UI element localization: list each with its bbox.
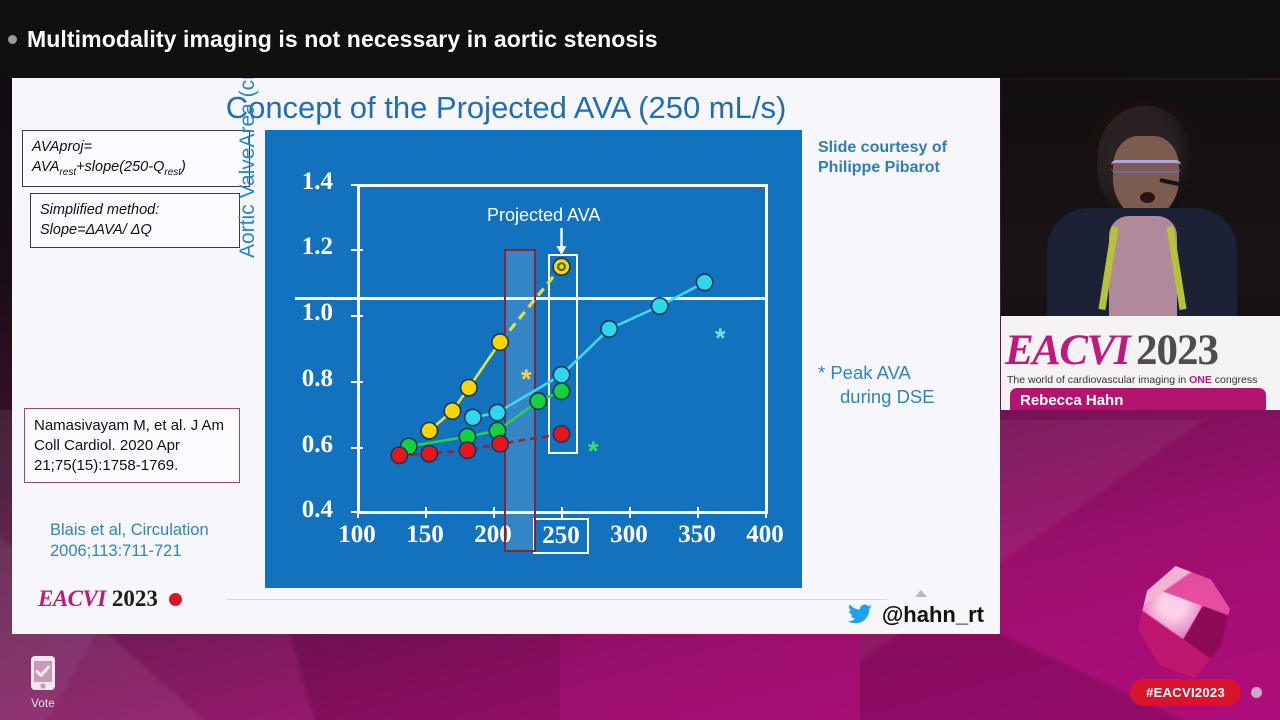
peak-note-line-2: during DSE (818, 385, 998, 409)
podium-tagline-a: The world of cardiovascular imaging in (1007, 374, 1189, 386)
footer-divider (227, 599, 887, 600)
podium-tagline-one: ONE (1189, 374, 1212, 386)
formula-box-avaproj: AVAproj= AVArest+slope(250-Qrest) (22, 130, 250, 187)
podium-logo-brand: EACVI (1005, 326, 1129, 375)
slide-title: Concept of the Projected AVA (250 mL/s) (12, 90, 1000, 126)
microphone-head (1209, 180, 1222, 193)
footer-caret-icon (915, 590, 927, 597)
vote-label: Vote (20, 698, 66, 710)
formula-line-2b: +slope(250-Q (76, 159, 164, 175)
speaker-video-panel[interactable]: EACVI 2023 The world of cardiovascular i… (1001, 80, 1280, 410)
hashtag-group: #EACVI2023 (1130, 679, 1262, 706)
formula-line-1: AVAproj= (32, 139, 92, 155)
app-root: Multimodality imaging is not necessary i… (0, 0, 1280, 720)
vote-button[interactable]: Vote (20, 655, 66, 710)
twitter-handle-text: @hahn_rt (882, 602, 984, 628)
formula-line-2c: ) (181, 159, 186, 175)
twitter-handle-group: @hahn_rt (847, 602, 984, 628)
hashtag-pill: #EACVI2023 (1130, 679, 1241, 706)
citation-primary: Namasivayam M, et al. J Am Coll Cardiol.… (24, 408, 240, 483)
hashtag-dot-icon (1251, 687, 1262, 698)
speaker-glasses (1111, 160, 1181, 173)
citation-secondary-line2: 2006;113:711-721 (50, 542, 182, 560)
podium-logo-year: 2023 (1136, 326, 1218, 375)
footer-logo-brand: EACVI (38, 586, 106, 612)
simplified-label: Simplified method: (40, 202, 159, 218)
formula-sub-rest-1: rest (59, 166, 76, 177)
header-bar: Multimodality imaging is not necessary i… (0, 0, 1280, 78)
podium-tagline: The world of cardiovascular imaging in O… (1007, 374, 1257, 386)
footer-logo-year: 2023 (112, 586, 158, 612)
twitter-bird-icon (847, 604, 873, 626)
formula-sub-rest-2: rest (164, 166, 181, 177)
slide-footer-logo: EACVI 2023 (38, 586, 182, 612)
chart-y-axis-label: Aortic ValveArea (cm2) (234, 78, 260, 258)
peak-note-line-1: * Peak AVA (818, 362, 911, 383)
chart-canvas: 1.4 1.2 1.0 0.8 0.6 0.4 100 150 200 300 … (265, 130, 802, 588)
citation-secondary-line1: Blais et al, Circulation (50, 521, 209, 539)
slide-panel: Concept of the Projected AVA (250 mL/s) … (12, 78, 1000, 634)
speaker-name: Rebecca Hahn (1020, 392, 1256, 410)
speaker-name-plate: Rebecca Hahn USA (1010, 388, 1266, 410)
podium-banner: EACVI 2023 The world of cardiovascular i… (1001, 316, 1280, 410)
speaker-mouth (1140, 192, 1155, 203)
courtesy-line-1: Slide courtesy of (818, 139, 947, 156)
speaker-face (1113, 136, 1179, 218)
mobile-vote-icon (30, 655, 56, 691)
header-bullet-icon (8, 35, 17, 44)
podium-logo: EACVI 2023 (1005, 326, 1218, 375)
courtesy-line-2: Philippe Pibarot (818, 159, 940, 176)
chart-series-layer (265, 130, 802, 588)
citation-secondary: Blais et al, Circulation 2006;113:711-72… (50, 520, 280, 562)
page-title: Multimodality imaging is not necessary i… (27, 26, 658, 53)
formula-line-2a: AVA (32, 159, 59, 175)
formula-box-simplified: Simplified method: Slope=ΔAVA/ ΔQ (30, 193, 240, 248)
slide-courtesy-note: Slide courtesy of Philippe Pibarot (818, 138, 998, 179)
y-axis-label-text: Aortic ValveArea (cm (236, 78, 259, 258)
peak-ava-note: * Peak AVA during DSE (818, 361, 998, 410)
simplified-formula: Slope=ΔAVA/ ΔQ (40, 222, 152, 238)
podium-tagline-c: congress (1212, 374, 1258, 386)
footer-logo-dot-icon (169, 593, 182, 606)
